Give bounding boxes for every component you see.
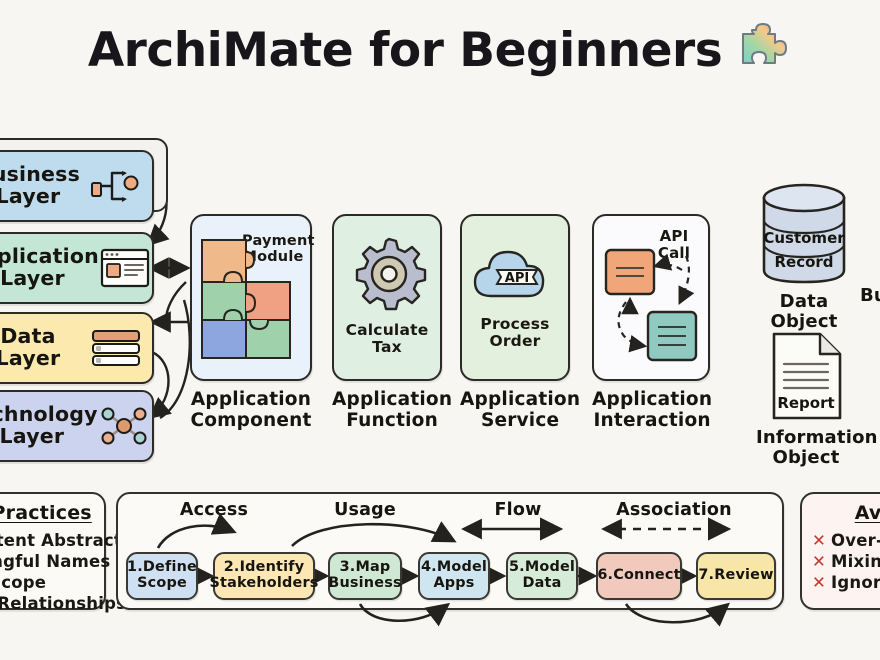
layer-label: Business Layer: [0, 164, 90, 207]
object-caption: Data Object: [752, 292, 856, 332]
infographic-canvas: ArchiMate for Beginners: [0, 0, 880, 660]
layer-label: Application Layer: [0, 246, 99, 289]
list-item-label: Ignoring Scope: [831, 573, 880, 592]
svg-text:Report: Report: [777, 394, 834, 412]
object-information-object[interactable]: Report Information Object: [756, 330, 856, 468]
element-box: API Call: [592, 214, 710, 381]
element-application-service[interactable]: API Process Order Application Service: [460, 214, 580, 431]
puzzle-grid-icon: [200, 238, 292, 360]
database-cylinder-icon: Customer Record: [756, 182, 852, 286]
layer-card-technology[interactable]: Technology Layer: [0, 390, 154, 462]
layer-label: Data Layer: [0, 326, 90, 369]
x-icon: ✕: [812, 573, 826, 592]
element-caption: Application Service: [460, 390, 580, 431]
svg-text:Customer: Customer: [763, 229, 845, 247]
layer-card-data[interactable]: Data Layer: [0, 312, 154, 384]
list-item: ✕Over-Modeling: [812, 530, 880, 551]
panel-title: Best Practices: [0, 502, 104, 524]
element-application-function[interactable]: Calculate Tax Application Function: [332, 214, 452, 431]
object-caption: Information Object: [756, 428, 856, 468]
layer-card-business[interactable]: Business Layer: [0, 150, 154, 222]
element-box: API Process Order: [460, 214, 570, 381]
process-step[interactable]: 6.Connect: [596, 552, 682, 600]
application-window-icon: [99, 245, 151, 291]
layer-label: Technology Layer: [0, 404, 98, 447]
panel-best-practices[interactable]: Best Practices Consistent Abstraction Me…: [0, 492, 106, 610]
process-step[interactable]: 7.Review: [696, 552, 776, 600]
object-caption-cutoff: Bu: [860, 286, 880, 306]
process-step[interactable]: 1.Define Scope: [126, 552, 198, 600]
object-data-object[interactable]: Customer Record Data Object: [752, 182, 856, 332]
element-caption: Application Component: [190, 390, 312, 431]
element-inner-label: Process Order: [462, 316, 568, 350]
process-step[interactable]: 4.Model Apps: [418, 552, 490, 600]
puzzle-piece-icon: [736, 22, 792, 78]
page-title-text: ArchiMate for Beginners: [88, 23, 722, 78]
element-application-interaction[interactable]: API Call Application Interaction: [592, 214, 712, 431]
element-box: Payment Module: [190, 214, 312, 381]
process-step[interactable]: 5.Model Data: [506, 552, 578, 600]
process-step[interactable]: 3.Map Business: [328, 552, 402, 600]
relation-label-flow: Flow: [486, 500, 550, 520]
list-item-label: Mixing Layers: [831, 552, 880, 571]
page-title: ArchiMate for Beginners: [0, 22, 880, 78]
list-item: ✕Ignoring Scope: [812, 572, 880, 593]
list-item: ✕Mixing Layers: [812, 551, 880, 572]
list-item: Model Relationships: [0, 593, 104, 614]
business-process-icon: [90, 163, 142, 209]
relation-label-access: Access: [176, 500, 252, 520]
two-nodes-exchange-icon: [596, 224, 708, 374]
document-page-icon: Report: [768, 330, 844, 422]
element-caption: Application Interaction: [592, 390, 712, 431]
gear-icon: [349, 234, 429, 314]
element-application-component[interactable]: Payment Module Application Component: [190, 214, 312, 431]
element-box: Calculate Tax: [332, 214, 442, 381]
element-inner-label: Calculate Tax: [334, 322, 440, 356]
process-step[interactable]: 2.Identify Stakeholders: [213, 552, 315, 600]
list-item: Meaningful Names: [0, 551, 104, 572]
list-item: Consistent Abstraction: [0, 530, 104, 551]
layer-card-application[interactable]: Application Layer: [0, 232, 154, 304]
relation-label-association: Association: [616, 500, 732, 520]
cloud-api-icon: API: [469, 238, 565, 308]
network-node-icon: [98, 403, 150, 449]
panel-title: Avoid: [802, 502, 880, 524]
element-caption: Application Function: [332, 390, 452, 431]
relation-label-usage: Usage: [328, 500, 402, 520]
panel-avoid[interactable]: Avoid ✕Over-Modeling ✕Mixing Layers ✕Ign…: [800, 492, 880, 610]
list-item: Clear Scope: [0, 572, 104, 593]
x-icon: ✕: [812, 531, 826, 550]
list-item-label: Over-Modeling: [831, 531, 880, 550]
data-bars-icon: [90, 325, 142, 371]
svg-text:Record: Record: [774, 253, 833, 271]
x-icon: ✕: [812, 552, 826, 571]
svg-text:API: API: [505, 271, 529, 286]
